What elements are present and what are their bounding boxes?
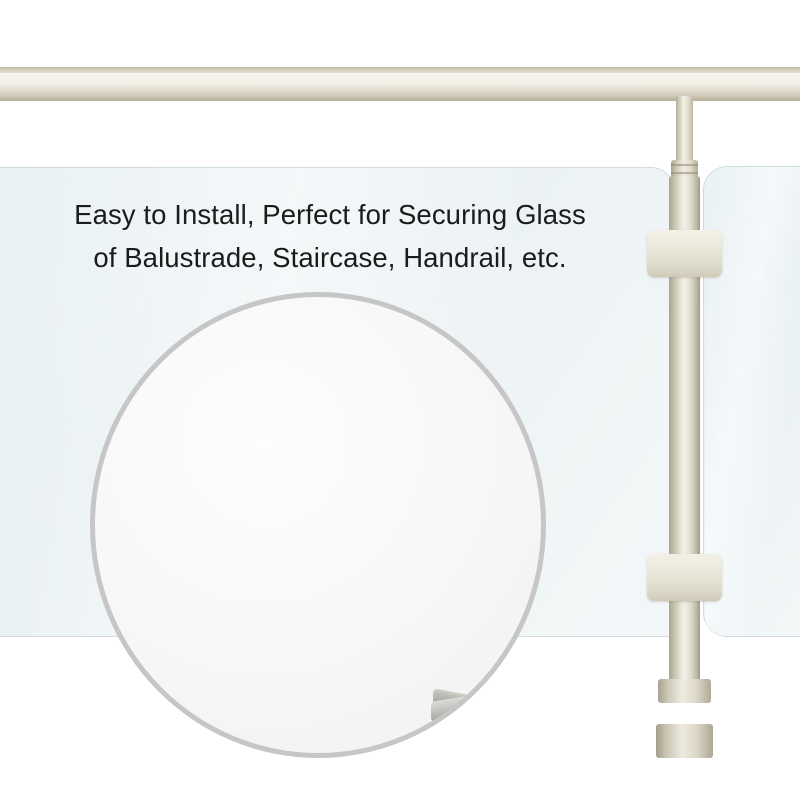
product-detail-callout: 12mm <box>90 292 546 758</box>
post-upper-section <box>676 96 693 168</box>
clamp-threaded-hole-upper <box>445 732 463 749</box>
post-collar-groove-top <box>671 164 698 166</box>
post-collar-groove-bottom <box>671 172 698 174</box>
headline-line-2: of Balustrade, Staircase, Handrail, etc. <box>0 236 660 279</box>
product-image-canvas: Easy to Install, Perfect for Securing Gl… <box>0 0 800 800</box>
page-title: Easy to Install, Perfect for Securing Gl… <box>0 193 660 279</box>
headline-line-1: Easy to Install, Perfect for Securing Gl… <box>0 193 660 236</box>
post-base-nut <box>656 724 713 758</box>
handrail-highlight <box>0 73 800 80</box>
clamp-side-tab-upper <box>427 732 439 754</box>
gasket-size-marking: 12mm <box>521 738 531 758</box>
post-glass-clamp-lower <box>647 554 722 601</box>
post-base-collar <box>658 679 711 703</box>
